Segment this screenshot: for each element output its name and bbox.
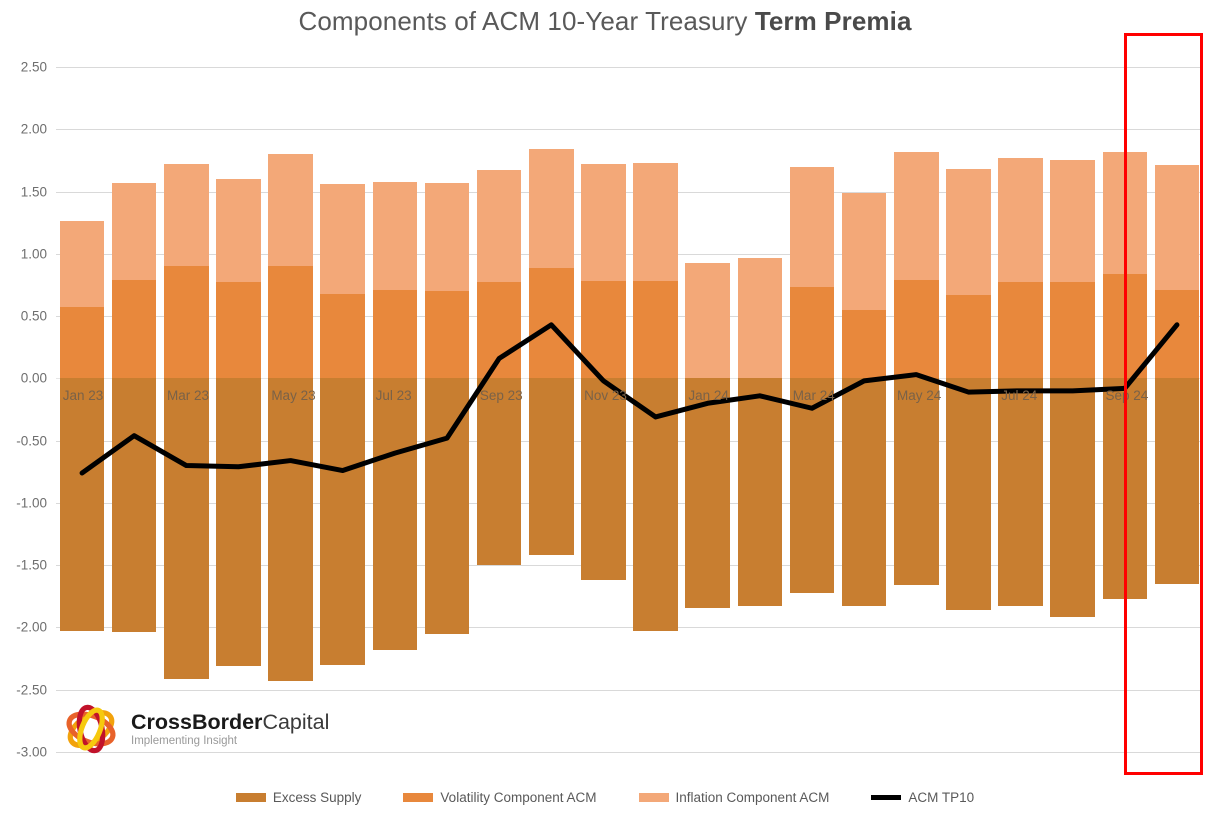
- bar-column[interactable]: [529, 67, 574, 752]
- bar-segment-volatility[interactable]: [998, 282, 1043, 378]
- logo-wordmark: CrossBorderCapital Implementing Insight: [131, 711, 329, 748]
- bar-segment-volatility[interactable]: [633, 281, 678, 378]
- bar-segment-excess-supply[interactable]: [529, 378, 574, 555]
- logo-name: CrossBorderCapital: [131, 711, 329, 734]
- bar-segment-inflation[interactable]: [268, 154, 313, 266]
- bar-column[interactable]: [216, 67, 261, 752]
- bar-segment-volatility[interactable]: [1155, 290, 1200, 378]
- bar-segment-excess-supply[interactable]: [946, 378, 991, 610]
- bar-column[interactable]: [320, 67, 365, 752]
- bar-segment-excess-supply[interactable]: [738, 378, 783, 606]
- bar-column[interactable]: [842, 67, 887, 752]
- bar-column[interactable]: [164, 67, 209, 752]
- chart-title: Components of ACM 10-Year Treasury Term …: [0, 6, 1210, 37]
- bar-column[interactable]: [112, 67, 157, 752]
- legend-label: Excess Supply: [273, 790, 362, 805]
- bar-segment-inflation[interactable]: [685, 263, 730, 379]
- y-axis-tick-label: 0.00: [0, 371, 47, 386]
- bar-segment-volatility[interactable]: [790, 287, 835, 378]
- bar-segment-excess-supply[interactable]: [581, 378, 626, 580]
- bar-segment-excess-supply[interactable]: [1103, 378, 1148, 598]
- bar-segment-inflation[interactable]: [581, 164, 626, 281]
- bar-segment-inflation[interactable]: [998, 158, 1043, 283]
- bar-segment-excess-supply[interactable]: [268, 378, 313, 681]
- bar-segment-excess-supply[interactable]: [320, 378, 365, 664]
- y-axis-tick-label: 0.50: [0, 309, 47, 324]
- bar-segment-volatility[interactable]: [60, 307, 105, 378]
- bar-segment-inflation[interactable]: [894, 152, 939, 280]
- bar-segment-volatility[interactable]: [581, 281, 626, 378]
- legend-label: Volatility Component ACM: [440, 790, 596, 805]
- bar-segment-inflation[interactable]: [477, 170, 522, 282]
- bar-segment-excess-supply[interactable]: [894, 378, 939, 585]
- bar-segment-volatility[interactable]: [320, 294, 365, 379]
- logo-name-bold: CrossBorder: [131, 710, 262, 734]
- bar-segment-excess-supply[interactable]: [633, 378, 678, 631]
- logo-swirl-icon: [60, 700, 122, 758]
- chart-title-normal: Components of ACM 10-Year Treasury: [298, 6, 754, 36]
- bar-column[interactable]: [1050, 67, 1095, 752]
- y-axis-tick-label: 1.00: [0, 246, 47, 261]
- bar-column[interactable]: [685, 67, 730, 752]
- bar-column[interactable]: [790, 67, 835, 752]
- legend-swatch: [403, 793, 433, 802]
- legend-label: Inflation Component ACM: [676, 790, 830, 805]
- bar-segment-volatility[interactable]: [164, 266, 209, 378]
- bar-column[interactable]: [1103, 67, 1148, 752]
- bar-segment-inflation[interactable]: [790, 167, 835, 288]
- legend-swatch: [871, 795, 901, 800]
- chart-root: Components of ACM 10-Year Treasury Term …: [0, 0, 1210, 814]
- legend-item[interactable]: Volatility Component ACM: [403, 790, 596, 805]
- bar-segment-excess-supply[interactable]: [1155, 378, 1200, 584]
- y-axis-tick-label: -3.00: [0, 745, 47, 760]
- bar-segment-excess-supply[interactable]: [112, 378, 157, 632]
- bar-segment-excess-supply[interactable]: [425, 378, 470, 633]
- bar-segment-inflation[interactable]: [425, 183, 470, 291]
- bar-segment-inflation[interactable]: [320, 184, 365, 294]
- bar-segment-volatility[interactable]: [842, 310, 887, 379]
- logo-name-regular: Capital: [262, 710, 329, 734]
- bar-segment-inflation[interactable]: [946, 169, 991, 295]
- bar-column[interactable]: [633, 67, 678, 752]
- legend-item[interactable]: ACM TP10: [871, 790, 974, 805]
- bar-column[interactable]: [60, 67, 105, 752]
- y-axis-tick-label: -2.00: [0, 620, 47, 635]
- logo-tagline: Implementing Insight: [131, 735, 329, 747]
- legend-item[interactable]: Excess Supply: [236, 790, 362, 805]
- bar-segment-volatility[interactable]: [1050, 282, 1095, 378]
- bar-segment-volatility[interactable]: [373, 290, 418, 378]
- bar-segment-inflation[interactable]: [164, 164, 209, 266]
- bar-column[interactable]: [738, 67, 783, 752]
- legend-item[interactable]: Inflation Component ACM: [639, 790, 830, 805]
- bar-column[interactable]: [1155, 67, 1200, 752]
- legend-swatch: [639, 793, 669, 802]
- bar-segment-inflation[interactable]: [633, 163, 678, 281]
- bar-segment-volatility[interactable]: [216, 282, 261, 378]
- bar-segment-volatility[interactable]: [1103, 274, 1148, 379]
- y-axis-tick-label: -0.50: [0, 433, 47, 448]
- bar-segment-excess-supply[interactable]: [842, 378, 887, 606]
- bar-column[interactable]: [477, 67, 522, 752]
- plot-area: Jan 23Mar 23May 23Jul 23Sep 23Nov 23Jan …: [56, 67, 1203, 752]
- bar-segment-excess-supply[interactable]: [373, 378, 418, 650]
- bar-segment-excess-supply[interactable]: [790, 378, 835, 592]
- bar-column[interactable]: [581, 67, 626, 752]
- bar-column[interactable]: [894, 67, 939, 752]
- bar-segment-volatility[interactable]: [894, 280, 939, 378]
- bar-segment-excess-supply[interactable]: [998, 378, 1043, 606]
- bar-segment-inflation[interactable]: [1155, 165, 1200, 290]
- bar-column[interactable]: [373, 67, 418, 752]
- y-axis-tick-label: -1.50: [0, 558, 47, 573]
- bar-segment-inflation[interactable]: [738, 258, 783, 379]
- bar-segment-inflation[interactable]: [529, 149, 574, 267]
- bar-segment-volatility[interactable]: [946, 295, 991, 378]
- bar-column[interactable]: [425, 67, 470, 752]
- bar-segment-volatility[interactable]: [529, 268, 574, 379]
- bar-segment-excess-supply[interactable]: [685, 378, 730, 607]
- bar-column[interactable]: [268, 67, 313, 752]
- bar-segment-excess-supply[interactable]: [477, 378, 522, 565]
- y-axis-tick-label: -1.00: [0, 495, 47, 510]
- legend-swatch: [236, 793, 266, 802]
- bar-segment-inflation[interactable]: [842, 193, 887, 310]
- bar-column[interactable]: [946, 67, 991, 752]
- legend-label: ACM TP10: [908, 790, 974, 805]
- bar-segment-excess-supply[interactable]: [216, 378, 261, 666]
- y-axis-tick-label: -2.50: [0, 682, 47, 697]
- chart-legend: Excess SupplyVolatility Component ACMInf…: [0, 790, 1210, 805]
- bar-segment-inflation[interactable]: [60, 221, 105, 307]
- bar-segment-inflation[interactable]: [1103, 152, 1148, 274]
- bar-segment-excess-supply[interactable]: [1050, 378, 1095, 617]
- bar-segment-excess-supply[interactable]: [164, 378, 209, 678]
- y-axis-tick-label: 2.50: [0, 60, 47, 75]
- chart-title-bold: Term Premia: [755, 6, 912, 36]
- bar-segment-inflation[interactable]: [112, 183, 157, 280]
- crossborder-capital-logo: CrossBorderCapital Implementing Insight: [60, 698, 350, 760]
- y-axis-tick-label: 1.50: [0, 184, 47, 199]
- bar-segment-volatility[interactable]: [477, 282, 522, 378]
- bar-segment-inflation[interactable]: [373, 182, 418, 290]
- bar-segment-excess-supply[interactable]: [60, 378, 105, 631]
- bar-column[interactable]: [998, 67, 1043, 752]
- bar-segment-volatility[interactable]: [268, 266, 313, 378]
- bar-segment-inflation[interactable]: [216, 179, 261, 282]
- bar-segment-inflation[interactable]: [1050, 160, 1095, 282]
- bar-segment-volatility[interactable]: [112, 280, 157, 378]
- bar-segment-volatility[interactable]: [425, 291, 470, 378]
- y-axis-tick-label: 2.00: [0, 122, 47, 137]
